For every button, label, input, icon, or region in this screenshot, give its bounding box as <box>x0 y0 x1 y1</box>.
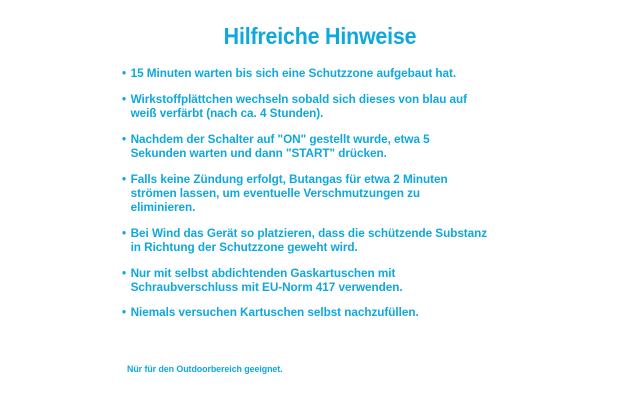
list-item: • 15 Minuten warten bis sich eine Schutz… <box>122 66 514 80</box>
list-item-text: Wirkstoffplättchen wechseln sobald sich … <box>131 92 514 120</box>
list-item: • Bei Wind das Gerät so platzieren, dass… <box>122 226 514 254</box>
list-item-text: 15 Minuten warten bis sich eine Schutzzo… <box>131 66 514 80</box>
bullet-icon: • <box>122 266 126 280</box>
bullet-icon: • <box>122 66 126 80</box>
list-item: • Wirkstoffplättchen wechseln sobald sic… <box>122 92 514 120</box>
page-title: Hilfreiche Hinweise <box>22 23 617 50</box>
list-item-text: Bei Wind das Gerät so platzieren, dass d… <box>131 226 514 254</box>
bullet-icon: • <box>122 226 126 240</box>
list-item-text: Niemals versuchen Kartuschen selbst nach… <box>131 305 514 319</box>
bullet-icon: • <box>122 305 126 319</box>
bullet-icon: • <box>122 92 126 106</box>
list-item: • Falls keine Zündung erfolgt, Butangas … <box>122 172 514 215</box>
bullet-icon: • <box>122 172 126 186</box>
list-item-text: Nur mit selbst abdichtenden Gaskartusche… <box>131 266 514 294</box>
bullet-icon: • <box>122 132 126 146</box>
tips-list: • 15 Minuten warten bis sich eine Schutz… <box>122 66 532 331</box>
list-item: • Niemals versuchen Kartuschen selbst na… <box>122 305 514 319</box>
list-item: • Nachdem der Schalter auf "ON" gestellt… <box>122 132 514 160</box>
list-item-text: Nachdem der Schalter auf "ON" gestellt w… <box>131 132 514 160</box>
list-item-text: Falls keine Zündung erfolgt, Butangas fü… <box>131 172 514 215</box>
footer-note: Nür für den Outdoorbereich geeignet. <box>127 364 283 374</box>
instructions-page: Hilfreiche Hinweise • 15 Minuten warten … <box>0 0 640 400</box>
list-item: • Nur mit selbst abdichtenden Gaskartusc… <box>122 266 514 294</box>
